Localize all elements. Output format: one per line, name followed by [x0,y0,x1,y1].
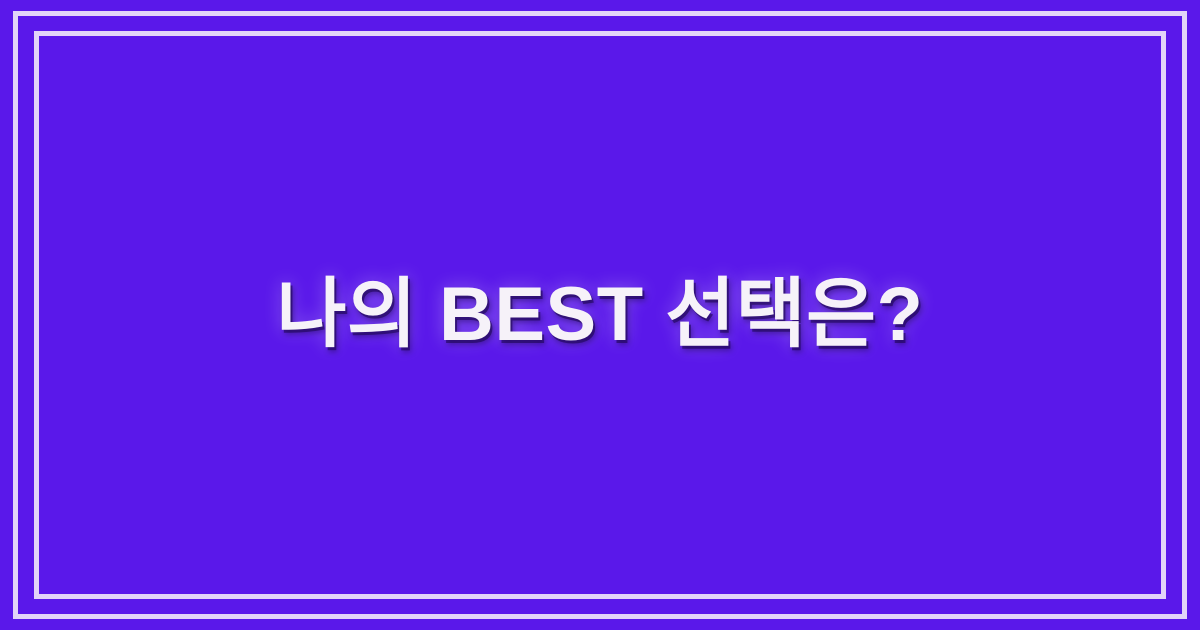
poster-canvas: 나의 BEST 선택은? [0,0,1200,630]
headline-container: 나의 BEST 선택은? [0,0,1200,630]
poster-headline: 나의 BEST 선택은? [217,271,984,358]
